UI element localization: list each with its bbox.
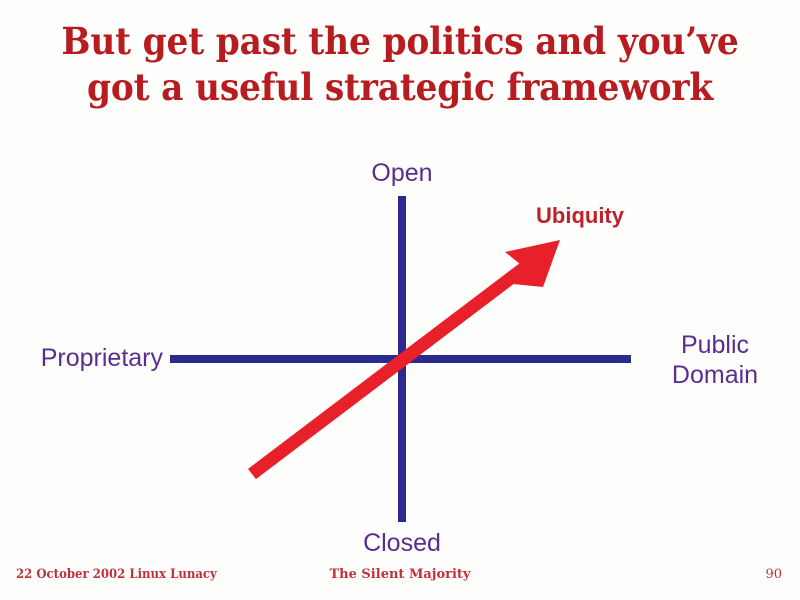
strategic-framework-diagram: Open Closed Proprietary Public Domain Ub… <box>0 0 800 600</box>
axis-label-proprietary: Proprietary <box>8 343 163 373</box>
axis-label-open: Open <box>338 158 466 188</box>
axis-label-closed: Closed <box>338 528 466 558</box>
axis-label-public-domain: Public Domain <box>640 330 790 390</box>
footer-presentation-title: The Silent Majority <box>0 566 800 584</box>
slide: But get past the politics and you’ve got… <box>0 0 800 600</box>
horizontal-axis <box>170 355 631 363</box>
footer-page-number: 90 <box>765 566 782 584</box>
slide-footer: 22 October 2002 Linux Lunacy The Silent … <box>0 566 800 590</box>
arrow-label-ubiquity: Ubiquity <box>495 203 665 229</box>
